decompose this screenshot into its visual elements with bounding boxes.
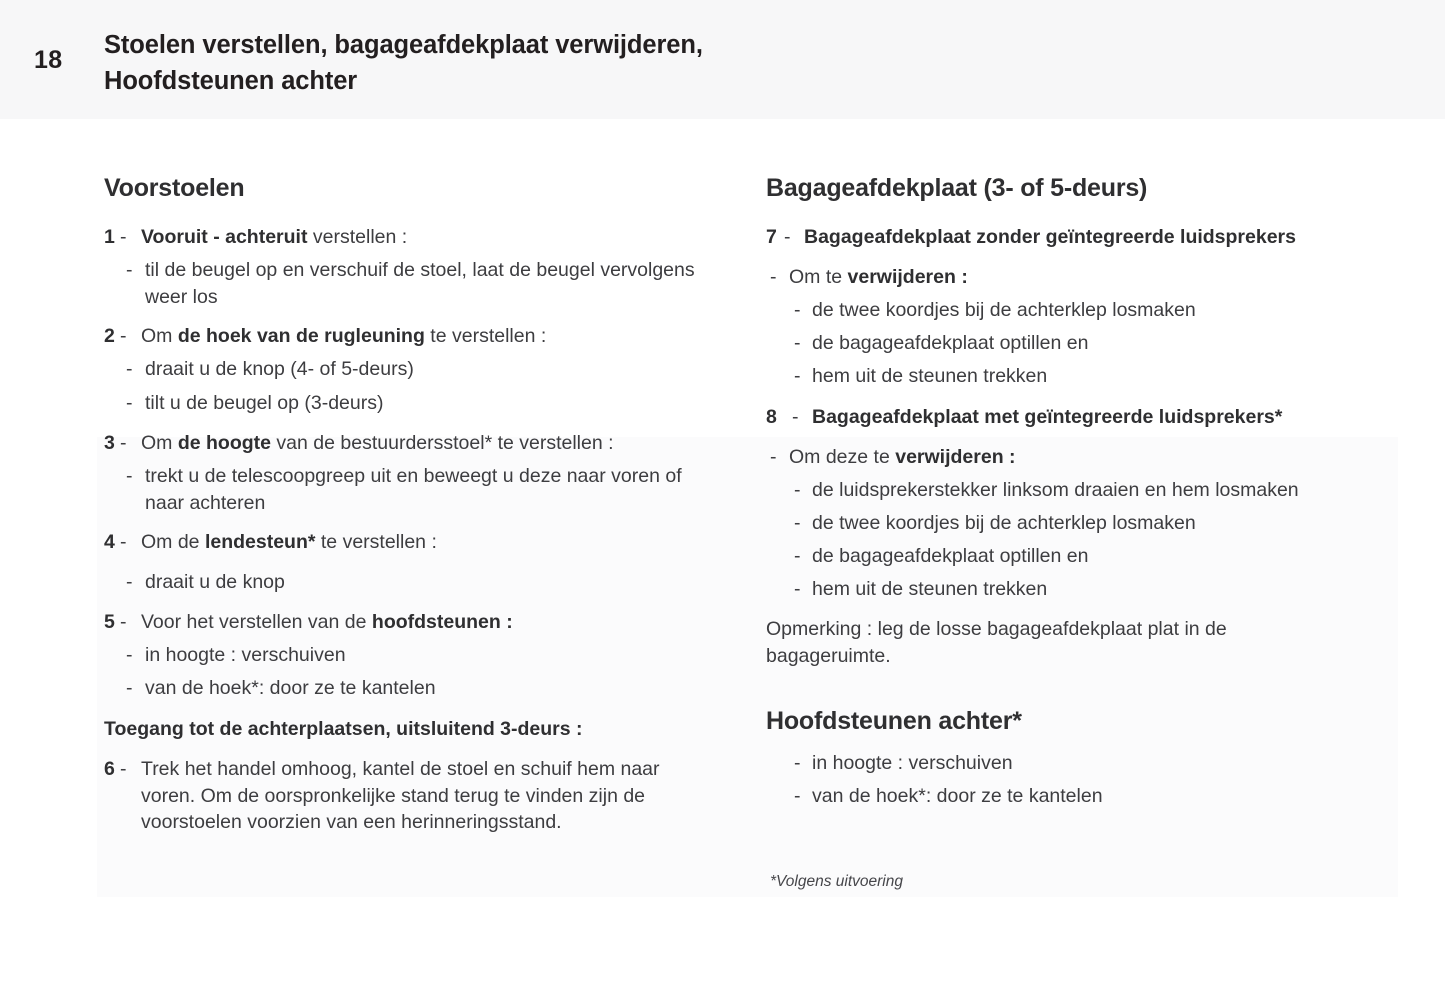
page-header-band: 18 Stoelen verstellen, bagageafdekplaat … [0, 0, 1445, 119]
page-title-line-2: Hoofdsteunen achter [104, 63, 1204, 99]
list-item-6: 6 - Trek het handel omhoog, kantel de st… [104, 756, 704, 836]
list-item-5-dash: - [120, 609, 141, 636]
headrests-sub-2-text: van de hoek*: door ze te kantelen [812, 783, 1414, 810]
list-item-8-lead: - Om deze te verwijderen : [766, 444, 1390, 471]
list-item-1: 1 - Vooruit - achteruit verstellen : [104, 224, 724, 251]
list-item-2-sub-1-dash: - [126, 356, 145, 383]
list-item-2-dash: - [120, 323, 141, 350]
list-item-7-sub-2-dash: - [794, 330, 812, 357]
list-item-1-sub-1-dash: - [126, 257, 145, 284]
list-item-7-sub-1-text: de twee koordjes bij de achterklep losma… [812, 297, 1414, 324]
list-item-3-number: 3 [104, 430, 120, 457]
list-item-8: 8 - Bagageafdekplaat met geïntegreerde l… [766, 404, 1406, 431]
list-item-2: 2 - Om de hoek van de rugleuning te vers… [104, 323, 724, 350]
list-item-2-sub-1-text: draait u de knop (4- of 5-deurs) [145, 356, 716, 383]
note-paragraph: Opmerking : leg de losse bagageafdekplaa… [766, 616, 1306, 669]
list-item-8-sub-4-text: hem uit de steunen trekken [812, 576, 1414, 603]
list-item-8-lead-dash: - [770, 444, 789, 471]
list-item-6-text: Trek het handel omhoog, kantel de stoel … [141, 756, 704, 836]
list-item-3-text: Om de hoogte van de bestuurdersstoel* te… [141, 430, 724, 457]
list-item-3: 3 - Om de hoogte van de bestuurdersstoel… [104, 430, 724, 457]
list-item-4-text: Om de lendesteun* te verstellen : [141, 529, 724, 556]
list-item-8-sub-1: - de luidsprekerstekker linksom draaien … [766, 477, 1414, 504]
list-item-7: 7 - Bagageafdekplaat zonder geïntegreerd… [766, 224, 1406, 251]
list-item-4-sub-1-dash: - [126, 569, 145, 596]
right-section-title: Bagageafdekplaat (3- of 5-deurs) [766, 174, 1147, 203]
list-item-1-sub-1-text: til de beugel op en verschuif de stoel, … [145, 257, 716, 310]
page-number: 18 [34, 46, 63, 75]
list-item-2-sub-2-dash: - [126, 390, 145, 417]
list-item-7-sub-2-text: de bagageafdekplaat optillen en [812, 330, 1414, 357]
list-item-7-sub-3-text: hem uit de steunen trekken [812, 363, 1414, 390]
list-item-7-lead-text: Om te verwijderen : [789, 264, 1390, 291]
list-item-6-number: 6 [104, 756, 120, 783]
list-item-5-sub-1: - in hoogte : verschuiven [104, 642, 716, 669]
list-item-1-number: 1 [104, 224, 120, 251]
headrests-sub-1-text: in hoogte : verschuiven [812, 750, 1414, 777]
list-item-7-lead: - Om te verwijderen : [766, 264, 1390, 291]
footnote: *Volgens uitvoering [770, 873, 903, 891]
list-item-4: 4 - Om de lendesteun* te verstellen : [104, 529, 724, 556]
list-item-4-number: 4 [104, 529, 120, 556]
list-item-7-sub-3-dash: - [794, 363, 812, 390]
list-item-8-heading: Bagageafdekplaat met geïntegreerde luids… [812, 404, 1406, 431]
list-item-2-number: 2 [104, 323, 120, 350]
list-item-7-sub-1-dash: - [794, 297, 812, 324]
list-item-4-dash: - [120, 529, 141, 556]
headrests-sub-1: - in hoogte : verschuiven [766, 750, 1414, 777]
list-item-3-sub-1: - trekt u de telescoopgreep uit en bewee… [104, 463, 701, 516]
list-item-1-dash: - [120, 224, 141, 251]
list-item-7-lead-dash: - [770, 264, 789, 291]
list-item-4-sub-1-text: draait u de knop [145, 569, 716, 596]
page-title-line-1: Stoelen verstellen, bagageafdekplaat ver… [104, 27, 1204, 63]
list-item-8-sub-3-dash: - [794, 543, 812, 570]
list-item-5-sub-2-dash: - [126, 675, 145, 702]
list-item-7-sub-3: - hem uit de steunen trekken [766, 363, 1414, 390]
list-item-3-sub-1-dash: - [126, 463, 145, 490]
left-section-title: Voorstoelen [104, 174, 244, 203]
list-item-8-lead-text: Om deze te verwijderen : [789, 444, 1390, 471]
list-item-8-sub-4-dash: - [794, 576, 812, 603]
list-item-2-sub-2: - tilt u de beugel op (3-deurs) [104, 390, 716, 417]
list-item-8-sub-2-text: de twee koordjes bij de achterklep losma… [812, 510, 1414, 537]
list-item-5-text: Voor het verstellen van de hoofdsteunen … [141, 609, 724, 636]
list-item-6-dash: - [120, 756, 141, 783]
list-item-5-sub-2-text: van de hoek*: door ze te kantelen [145, 675, 716, 702]
headrests-sub-2-dash: - [794, 783, 812, 810]
list-item-4-sub-1: - draait u de knop [104, 569, 716, 596]
list-item-8-sub-2: - de twee koordjes bij de achterklep los… [766, 510, 1414, 537]
list-item-1-text: Vooruit - achteruit verstellen : [141, 224, 724, 251]
list-item-8-sub-3: - de bagageafdekplaat optillen en [766, 543, 1414, 570]
list-item-5-sub-1-dash: - [126, 642, 145, 669]
list-item-1-sub-1: - til de beugel op en verschuif de stoel… [104, 257, 716, 310]
list-item-8-number: 8 [766, 404, 792, 431]
list-item-2-sub-1: - draait u de knop (4- of 5-deurs) [104, 356, 716, 383]
list-item-3-sub-1-text: trekt u de telescoopgreep uit en beweegt… [145, 463, 701, 516]
list-item-7-heading: Bagageafdekplaat zonder geïntegreerde lu… [804, 224, 1406, 251]
list-item-7-sub-1: - de twee koordjes bij de achterklep los… [766, 297, 1414, 324]
list-item-5: 5 - Voor het verstellen van de hoofdsteu… [104, 609, 724, 636]
list-item-2-text: Om de hoek van de rugleuning te verstell… [141, 323, 724, 350]
list-item-8-sub-2-dash: - [794, 510, 812, 537]
list-item-5-sub-2: - van de hoek*: door ze te kantelen [104, 675, 716, 702]
list-item-7-dash: - [784, 224, 804, 251]
list-item-7-sub-2: - de bagageafdekplaat optillen en [766, 330, 1414, 357]
list-item-7-number: 7 [766, 224, 784, 251]
headrests-section-title: Hoofdsteunen achter* [766, 707, 1022, 736]
headrests-sub-1-dash: - [794, 750, 812, 777]
headrests-sub-2: - van de hoek*: door ze te kantelen [766, 783, 1414, 810]
page-title: Stoelen verstellen, bagageafdekplaat ver… [104, 27, 1204, 99]
list-item-8-sub-4: - hem uit de steunen trekken [766, 576, 1414, 603]
left-subsection-heading: Toegang tot de achterplaatsen, uitsluite… [104, 716, 724, 743]
list-item-8-dash: - [792, 404, 812, 431]
list-item-8-sub-3-text: de bagageafdekplaat optillen en [812, 543, 1414, 570]
list-item-5-number: 5 [104, 609, 120, 636]
list-item-2-sub-2-text: tilt u de beugel op (3-deurs) [145, 390, 716, 417]
list-item-8-sub-1-text: de luidsprekerstekker linksom draaien en… [812, 477, 1414, 504]
list-item-3-dash: - [120, 430, 141, 457]
list-item-8-sub-1-dash: - [794, 477, 812, 504]
list-item-5-sub-1-text: in hoogte : verschuiven [145, 642, 716, 669]
